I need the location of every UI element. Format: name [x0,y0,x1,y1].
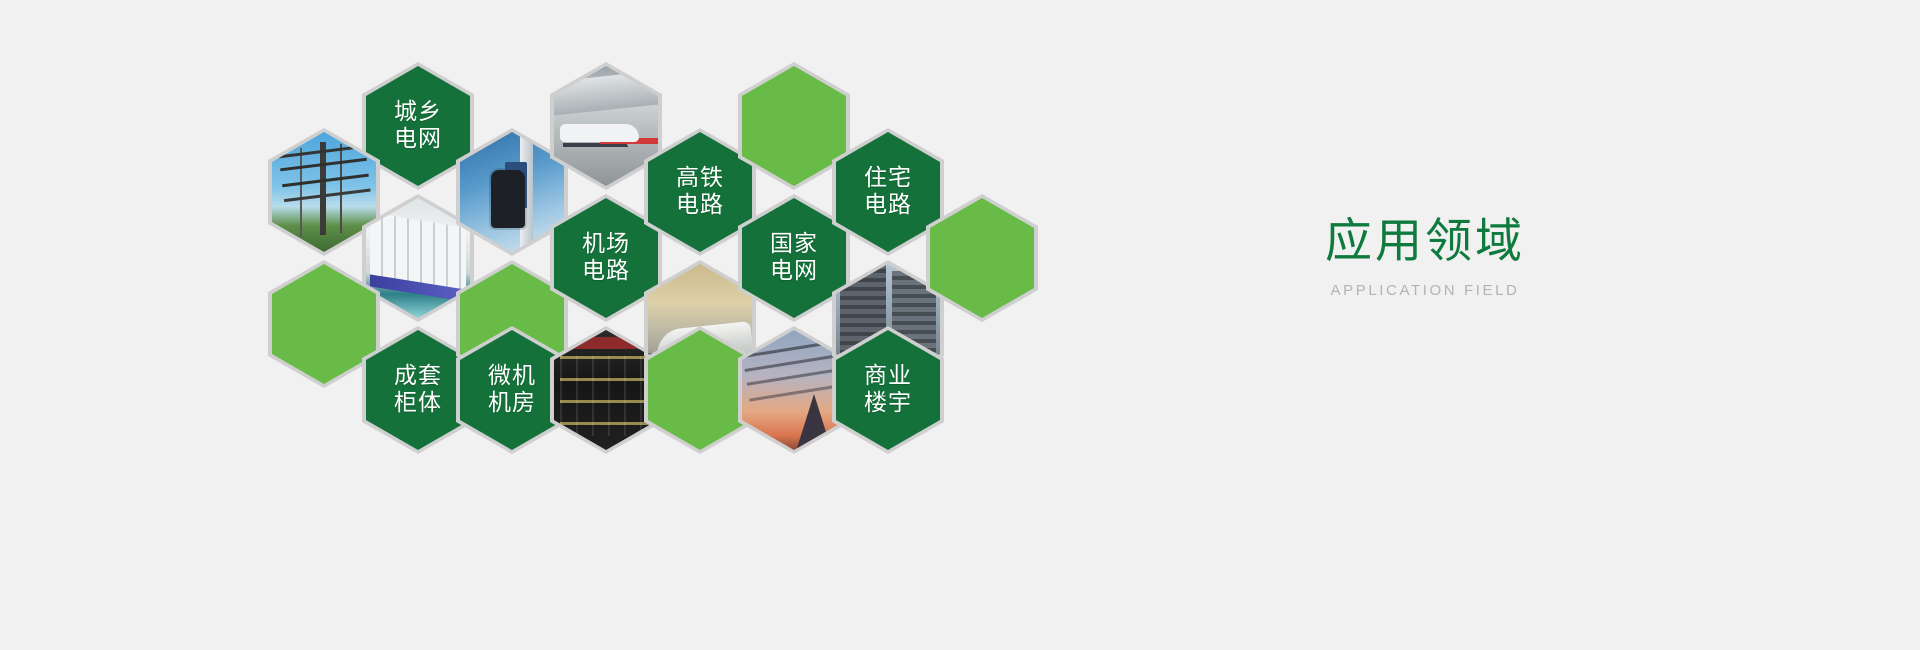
worker-climbing-pole-image [460,132,564,252]
hex-inner-blank-upper-right [742,66,846,186]
hex-inner-power-pole-photo [272,132,376,252]
hex-label-state-grid: 国家 电网 [770,231,818,285]
hex-inner-lineman-photo [460,132,564,252]
hex-label-residential-circuit: 住宅 电路 [864,165,912,219]
relay-switch-panels-image [554,330,658,450]
hex-inner-airport-circuit: 机场 电路 [554,198,658,318]
application-field-banner: 城乡 电网成套 柜体微机 机房机场 电路高铁 电路国家 电网住宅 电路商业 楼宇… [0,0,1920,650]
hex-inner-relay-panel-photo [554,330,658,450]
hex-inner-airport-photo [554,66,658,186]
hex-inner-hsr-circuit: 高铁 电路 [648,132,752,252]
hex-inner-residential-circuit: 住宅 电路 [836,132,940,252]
hex-inner-commercial-building: 商业 楼宇 [836,330,940,450]
hex-label-computer-room: 微机 机房 [488,363,536,417]
hex-inner-complete-cabinet: 成套 柜体 [366,330,470,450]
hex-inner-blank-bottom-mid [648,330,752,450]
power-pole-blue-sky-image [272,132,376,252]
hex-label-hsr-circuit: 高铁 电路 [676,165,724,219]
airport-apron-plane-image [554,66,658,186]
sunset-transmission-towers-image [742,330,846,450]
hex-inner-blank-left-upper [272,264,376,384]
hex-inner-computer-room: 微机 机房 [460,330,564,450]
hex-label-commercial-building: 商业 楼宇 [864,363,912,417]
hex-label-airport-circuit: 机场 电路 [582,231,630,285]
page-subtitle: APPLICATION FIELD [1145,282,1705,299]
hex-inner-sunset-tower-photo [742,330,846,450]
hex-inner-urban-rural-grid: 城乡 电网 [366,66,470,186]
switchgear-cabinet-row-image [366,198,470,318]
hex-label-complete-cabinet: 成套 柜体 [394,363,442,417]
hex-label-urban-rural-grid: 城乡 电网 [394,99,442,153]
hex-inner-state-grid: 国家 电网 [742,198,846,318]
hex-inner-blank-far-right [930,198,1034,318]
hex-inner-switchgear-photo [366,198,470,318]
page-title: 应用领域 [1145,216,1705,268]
title-block: 应用领域 APPLICATION FIELD [1145,216,1705,299]
